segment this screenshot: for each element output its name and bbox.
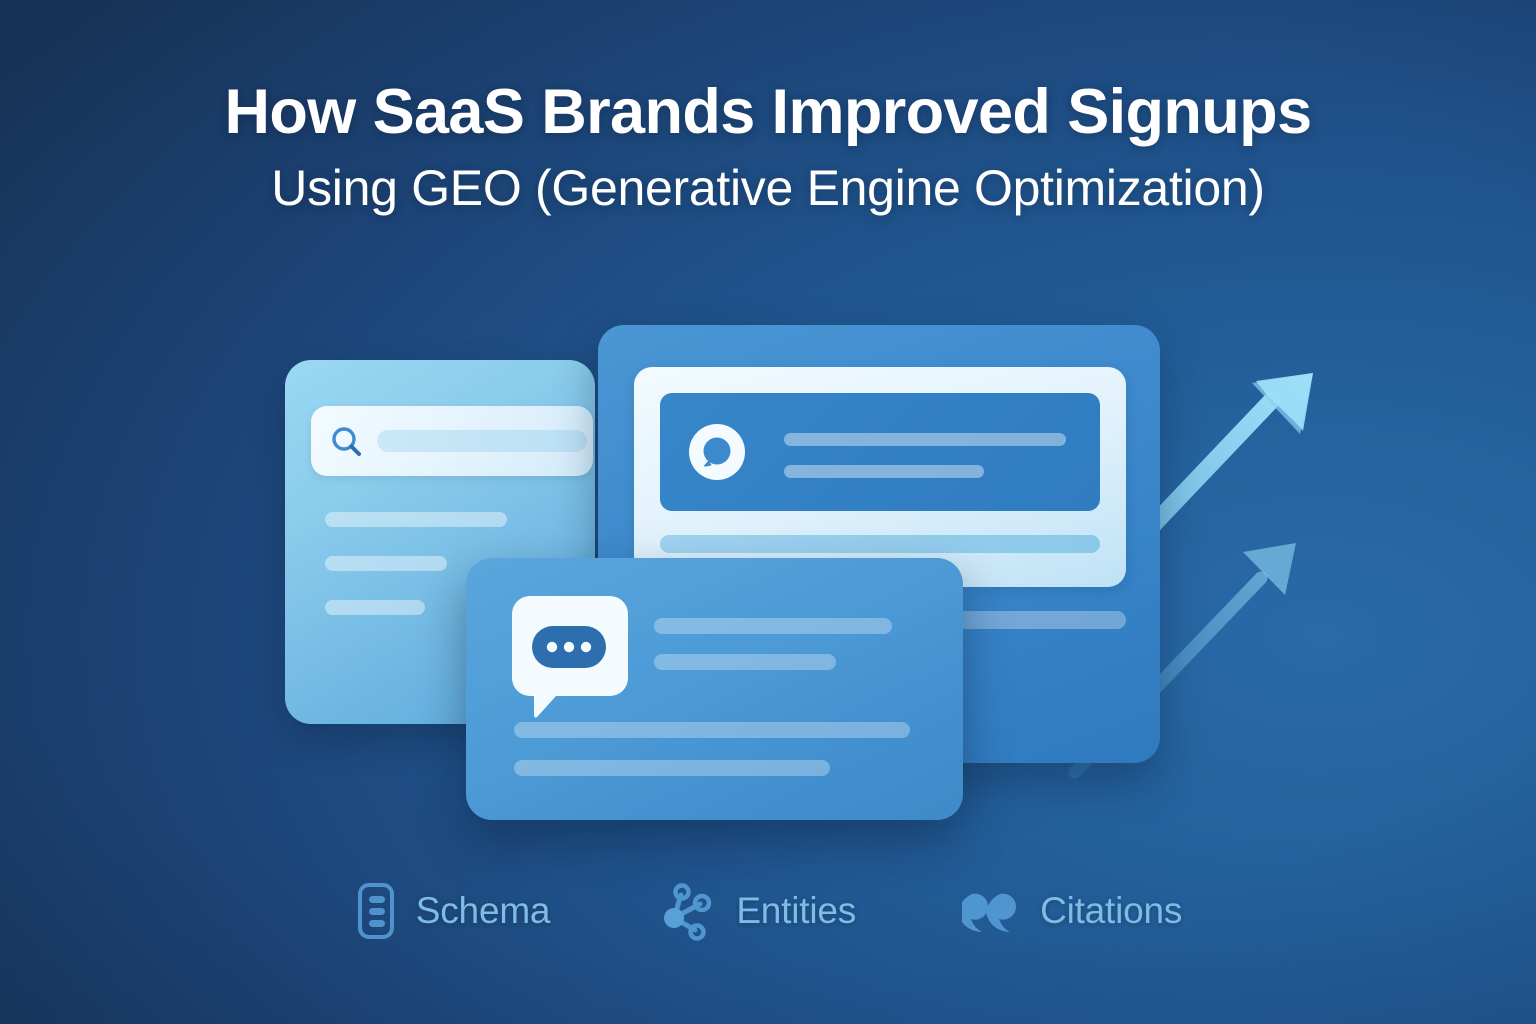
schema-document-icon [354,882,398,940]
answer-header [660,393,1100,511]
feature-item-schema[interactable]: Schema [354,882,551,940]
text-line [325,556,447,571]
text-line [784,465,984,478]
ai-avatar-icon [684,419,750,485]
text-line [654,618,892,634]
text-line [654,654,836,670]
chat-response-card[interactable] [466,558,963,820]
feature-label: Schema [416,890,551,932]
quote-marks-icon [962,888,1022,934]
feature-label: Entities [736,890,856,932]
answer-panel [634,367,1126,587]
text-line [325,512,507,527]
feature-label: Citations [1040,890,1182,932]
text-line [514,722,910,738]
search-bar[interactable] [311,406,593,476]
text-line [784,433,1066,446]
text-line [325,600,425,615]
feature-list: Schema Entities Citations [0,880,1536,942]
search-input[interactable] [377,430,587,452]
feature-item-citations[interactable]: Citations [962,888,1182,934]
illustration-stage [0,0,1536,1024]
feature-item-entities[interactable]: Entities [656,880,856,942]
search-icon [329,424,365,460]
chat-bubble-icon [510,592,630,724]
entities-graph-icon [656,880,718,942]
text-line [660,535,1100,553]
text-line [514,760,830,776]
